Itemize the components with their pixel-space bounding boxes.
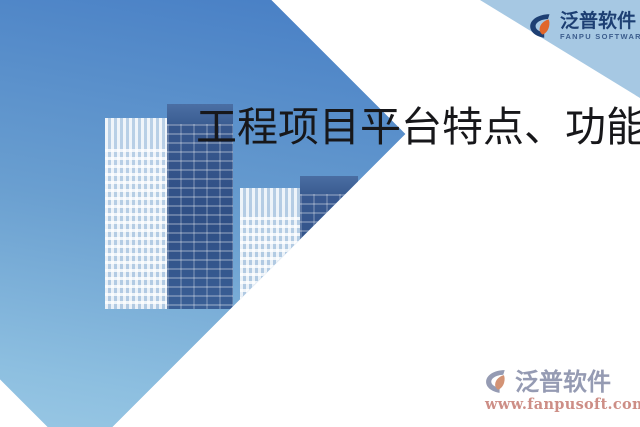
watermark-company-cn: 泛普软件 — [515, 370, 611, 394]
header-logo: 泛普软件 FANPU SOFTWARE — [527, 12, 640, 41]
tower-right-window-rows — [240, 212, 300, 364]
tower-right-dark-face — [300, 176, 358, 364]
fanpu-swoosh-logo-icon — [483, 368, 510, 395]
watermark: 泛普软件 www.fanpusoft.com — [483, 368, 640, 413]
header-logo-text: 泛普软件 FANPU SOFTWARE — [560, 12, 640, 41]
tower-left-window-grid — [167, 124, 233, 309]
watermark-logo-row: 泛普软件 — [483, 368, 640, 395]
fanpu-swoosh-logo-icon — [527, 12, 555, 40]
tower-right-light-face — [240, 188, 300, 364]
tower-right-roof-cap — [300, 176, 358, 194]
header-logo-company-en: FANPU SOFTWARE — [560, 33, 640, 41]
tower-left-window-rows — [105, 144, 167, 309]
diamond-photo-frame — [0, 0, 405, 427]
slide-title: 工程项目平台特点、功能 — [196, 106, 640, 149]
tower-left-light-face — [105, 118, 167, 309]
slide-canvas: 泛普软件 FANPU SOFTWARE 工程项目平台特点、功能 泛普软件 www… — [0, 0, 640, 427]
building-tower-right — [240, 176, 358, 364]
tower-right-window-grid — [300, 194, 358, 364]
watermark-url: www.fanpusoft.com — [485, 396, 640, 413]
diamond-photo-content — [0, 0, 310, 364]
header-logo-company-cn: 泛普软件 — [560, 12, 640, 31]
